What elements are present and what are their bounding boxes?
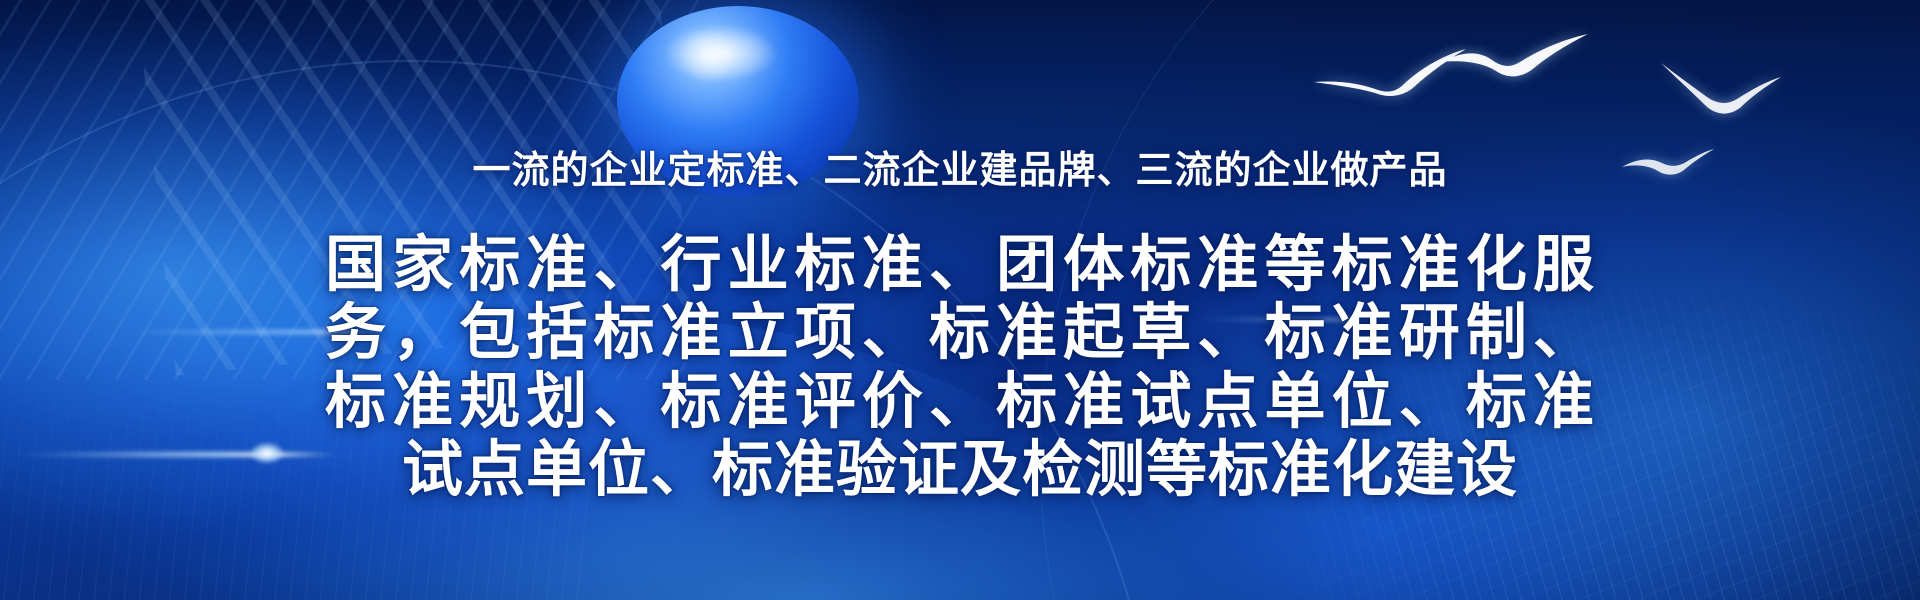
hero-banner: 一流的企业定标准、二流企业建品牌、三流的企业做产品 国家标准、行业标准、团体标准… [0,0,1920,600]
headline-line-2: 务，包括标准立项、标准起草、标准研制、 [325,298,1595,366]
banner-content: 一流的企业定标准、二流企业建品牌、三流的企业做产品 国家标准、行业标准、团体标准… [0,0,1920,600]
banner-headline: 国家标准、行业标准、团体标准等标准化服 务，包括标准立项、标准起草、标准研制、 … [325,230,1595,503]
headline-line-3: 标准规划、标准评价、标准试点单位、标准 [325,367,1595,435]
headline-line-4: 试点单位、标准验证及检测等标准化建设 [325,435,1595,503]
banner-tagline: 一流的企业定标准、二流企业建品牌、三流的企业做产品 [472,139,1447,194]
headline-line-1: 国家标准、行业标准、团体标准等标准化服 [325,230,1595,298]
